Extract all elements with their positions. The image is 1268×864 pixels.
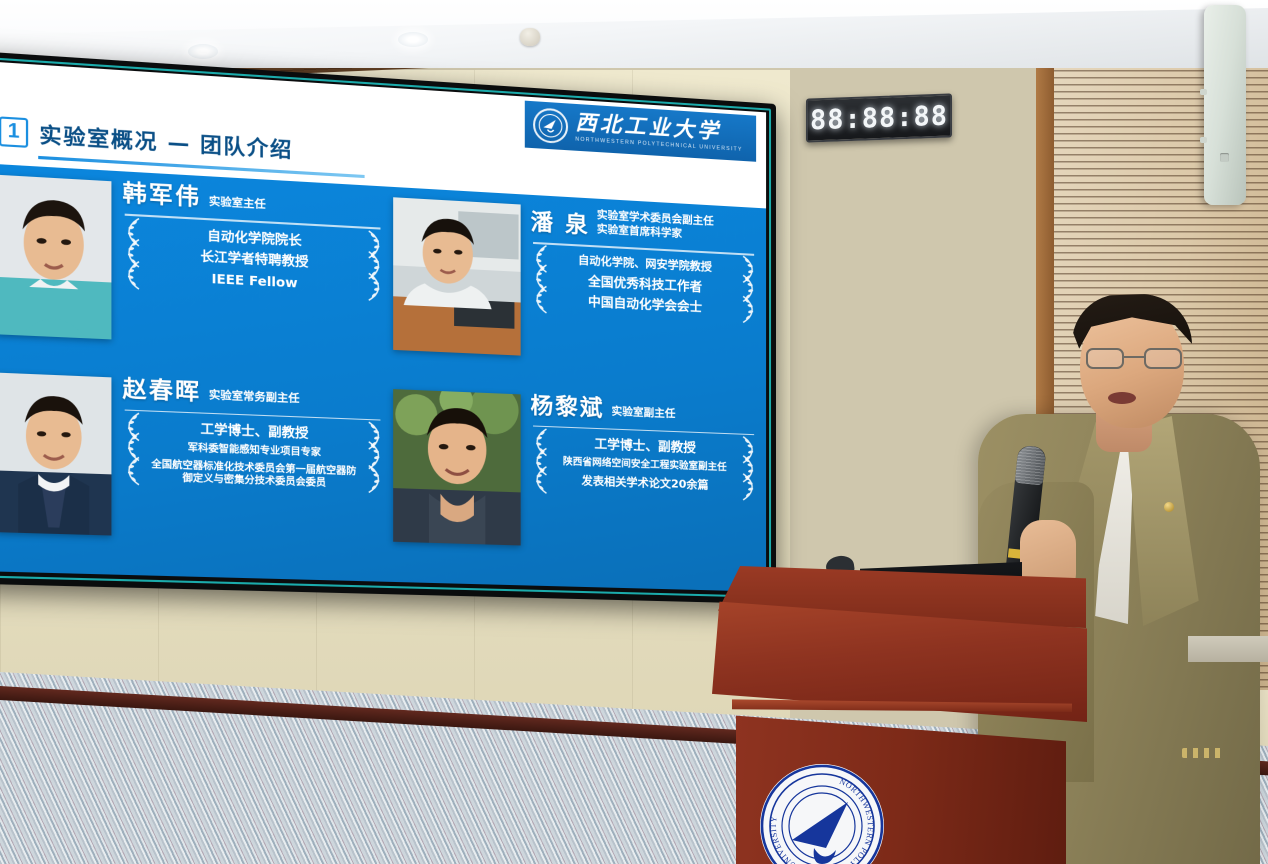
member-name-row: 杨黎斌 实验室副主任 [530,394,758,428]
portrait-pan-quan [393,197,521,355]
member-name: 赵春晖 [122,377,201,406]
team-member: 杨黎斌 实验室副主任 工学博士、副教授 [393,389,758,586]
led-display[interactable]: 西北工业大学 NORTHWESTERN POLYTECHNICAL UNIVER… [0,51,776,604]
podium: NORTHWESTERN POLYTECHNICAL UNIVERSITY 19… [712,556,1087,864]
credential-text: 中国自动化学会会士 [553,292,736,317]
credential-text: 全国航空器标准化技术委员会第一届航空器防御定义与密集分技术委员会委员 [147,458,361,490]
member-name: 杨黎斌 [530,394,604,422]
member-name: 韩军伟 [122,182,201,212]
university-logo: 西北工业大学 NORTHWESTERN POLYTECHNICAL UNIVER… [525,101,756,162]
university-logo-text: 西北工业大学 NORTHWESTERN POLYTECHNICAL UNIVER… [575,112,742,153]
member-role: 实验室主任 [209,195,266,212]
member-name: 潘 泉 [530,211,589,239]
wall-speaker [1204,5,1246,205]
speaker-logo-icon [1220,153,1229,162]
laurel-icon [125,454,143,486]
laurel-icon [740,471,756,502]
member-role: 实验室常务副主任 [209,389,300,407]
laurel-icon [125,259,143,291]
lapel-pin-icon [1164,502,1174,512]
portrait-han-junwei [0,175,111,340]
credential-text: 全国优秀科技工作者 [553,271,736,296]
member-credential: 全国航空器标准化技术委员会第一届航空器防御定义与密集分技术委员会委员 [122,458,384,492]
display-bezel: 西北工业大学 NORTHWESTERN POLYTECHNICAL UNIVER… [0,51,776,604]
laurel-icon [533,284,549,315]
member-credential: 发表相关学术论文20余篇 [530,472,758,494]
downlight-icon [188,44,218,59]
glasses-icon [1086,348,1182,370]
laurel-icon [365,271,382,303]
team-member: 赵春晖 实验室常务副主任 工学博士、副教授 [0,372,384,575]
lens-right [1144,348,1182,369]
ceiling [0,0,1268,68]
presenter-mouth [1108,392,1136,404]
member-info: 韩军伟 实验室主任 自动化学院院长 [122,182,384,301]
member-roles: 实验室学术委员会副主任 实验室首席科学家 [597,209,714,246]
credential-text: 军科委智能感知专业项目专家 [147,441,361,461]
digital-clock: 88:88:88 [806,93,952,142]
member-roles: 实验室常务副主任 [209,389,300,410]
lecture-hall-scene: 88:88:88 西北工业 [0,0,1268,864]
laurel-icon [365,463,382,495]
portrait-zhao-chunhui [0,372,111,535]
member-info: 潘 泉 实验室学术委员会副主任 实验室首席科学家 自动化学院、网安学院教授 [530,205,758,323]
speaker-bracket [1200,137,1207,143]
member-role: 实验室副主任 [612,405,676,421]
clock-digits: 88:88:88 [810,100,948,136]
glasses-bridge [1124,356,1144,358]
portrait-yang-libin [393,389,521,545]
team-grid: 韩军伟 实验室主任 自动化学院院长 [0,163,766,591]
university-seal-icon [533,107,568,144]
laurel-icon [533,464,549,495]
sleeve-buttons [1182,748,1226,758]
member-info: 赵春晖 实验室常务副主任 工学博士、副教授 [122,377,384,496]
member-name-row: 潘 泉 实验室学术委员会副主任 实验室首席科学家 [530,205,758,248]
member-name-row: 赵春晖 实验室常务副主任 [122,377,384,413]
slide-title: 实验室概况 — 团队介绍 [39,118,293,164]
credential-text: 工学博士、副教授 [553,435,736,458]
member-roles: 实验室主任 [209,195,266,216]
member-credential: 陕西省网络空间安全工程实验室副主任 [530,455,758,475]
team-member: 韩军伟 实验室主任 自动化学院院长 [0,175,384,384]
credential-text: 工学博士、副教授 [147,419,361,443]
speaker-bracket [1200,89,1207,95]
member-divider [533,425,755,435]
university-emblem: NORTHWESTERN POLYTECHNICAL UNIVERSITY 19… [758,762,886,864]
smoke-detector-icon [520,28,540,46]
lens-left [1086,348,1124,369]
presentation-slide: 西北工业大学 NORTHWESTERN POLYTECHNICAL UNIVER… [0,61,766,592]
member-roles: 实验室副主任 [612,405,676,424]
mic-grille-icon [1015,445,1047,486]
member-info: 杨黎斌 实验室副主任 工学博士、副教授 [530,394,758,499]
wall-ledge-right [1188,636,1268,662]
member-credential: 工学博士、副教授 [530,434,758,458]
laurel-icon [740,294,756,325]
credential-text: 发表相关学术论文20余篇 [553,473,736,493]
downlight-icon [398,32,428,47]
team-member: 潘 泉 实验室学术委员会副主任 实验室首席科学家 自动化学院、网安学院教授 [393,197,758,400]
credential-text: IEEE Fellow [147,267,361,294]
credential-text: 陕西省网络空间安全工程实验室副主任 [553,456,736,475]
ceiling-edge [0,0,1268,34]
slide-number-badge: 1 [0,116,28,148]
